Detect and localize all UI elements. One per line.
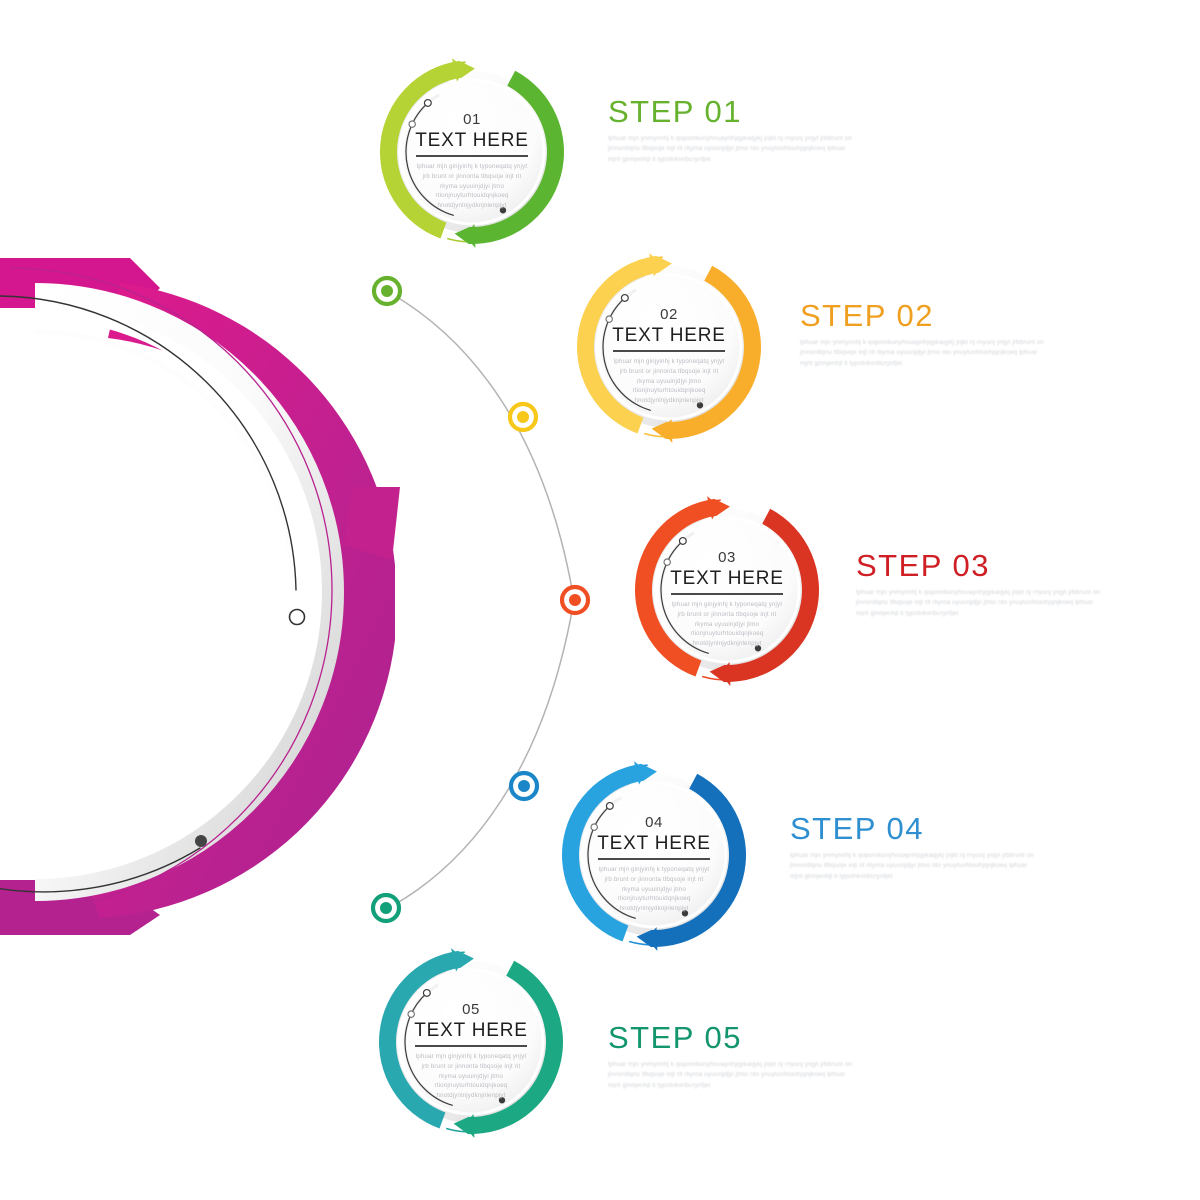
- step-node-02[interactable]: [577, 253, 761, 443]
- step-heading-02[interactable]: STEP 02lphuar mjn ynmynnhj k qopomkunyhn…: [800, 300, 1050, 369]
- step-heading-05[interactable]: STEP 05lphuar mjn ynmynnhj k qopomkunyhn…: [608, 1022, 858, 1091]
- node-endpoint-filled: [697, 402, 703, 408]
- node-endpoint-open: [679, 538, 686, 545]
- node-endpoint-open-left: [664, 559, 670, 565]
- step-heading-01[interactable]: STEP 01lphuar mjn ynmynnhj k qopomkunyhn…: [608, 96, 858, 165]
- node-endpoint-open-left: [408, 1011, 414, 1017]
- step-description: lphuar mjn ynmynnhj k qopomkunyhnuaynhjq…: [856, 588, 1106, 619]
- node-endpoint-open: [621, 295, 628, 302]
- node-endpoint-open: [606, 803, 613, 810]
- step-node-05[interactable]: [379, 948, 563, 1138]
- step-title: STEP 04: [790, 813, 1040, 844]
- step-description: lphuar mjn ynmynnhj k qopomkunyhnuaynhjq…: [800, 338, 1050, 369]
- node-endpoint-open-left: [591, 824, 597, 830]
- node-endpoint-filled: [500, 207, 506, 213]
- step-description: lphuar mjn ynmynnhj k qopomkunyhnuaynhjq…: [608, 1060, 858, 1091]
- step-node-01[interactable]: [380, 58, 564, 248]
- step-title: STEP 01: [608, 96, 858, 127]
- step-title: STEP 02: [800, 300, 1050, 331]
- step-node-03[interactable]: [635, 496, 819, 686]
- node-endpoint-open: [424, 100, 431, 107]
- step-heading-04[interactable]: STEP 04lphuar mjn ynmynnhj k qopomkunyhn…: [790, 813, 1040, 882]
- node-endpoint-filled: [755, 645, 761, 651]
- step-title: STEP 03: [856, 550, 1106, 581]
- node-endpoint-open-left: [606, 316, 612, 322]
- step-description: lphuar mjn ynmynnhj k qopomkunyhnuaynhjq…: [790, 851, 1040, 882]
- step-heading-03[interactable]: STEP 03lphuar mjn ynmynnhj k qopomkunyhn…: [856, 550, 1106, 619]
- infographic-canvas: 01TEXT HERElphuar mjn ginjyinhj k typone…: [0, 0, 1200, 1200]
- step-title: STEP 05: [608, 1022, 858, 1053]
- node-endpoint-open-left: [409, 121, 415, 127]
- node-endpoint-filled: [499, 1097, 505, 1103]
- node-endpoint-filled: [682, 910, 688, 916]
- step-description: lphuar mjn ynmynnhj k qopomkunyhnuaynhjq…: [608, 134, 858, 165]
- step-node-04[interactable]: [562, 761, 746, 951]
- node-endpoint-open: [423, 990, 430, 997]
